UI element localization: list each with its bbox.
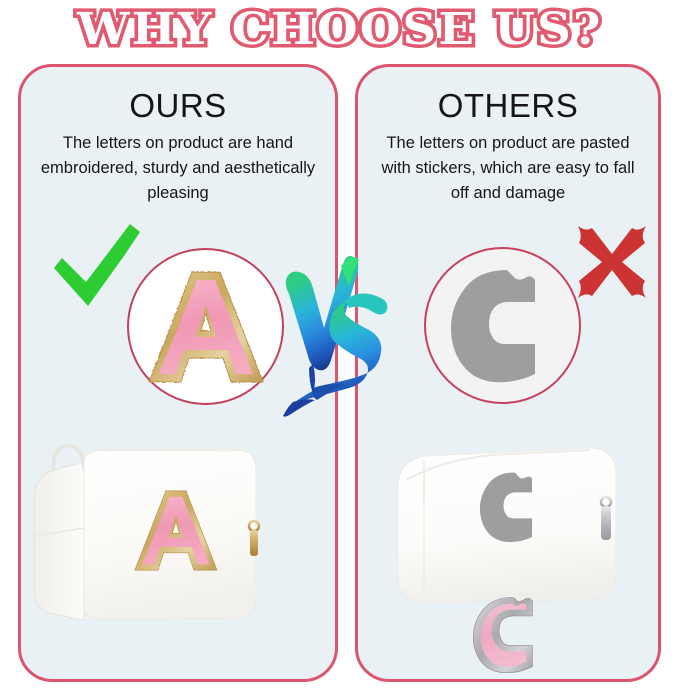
sample-circle-others bbox=[424, 247, 581, 404]
panel-others-title: OTHERS bbox=[358, 87, 658, 125]
check-icon bbox=[50, 222, 142, 314]
panel-ours-description: The letters on product are hand embroide… bbox=[35, 131, 321, 206]
panel-ours-title: OURS bbox=[21, 87, 335, 125]
page-title-text: WHY CHOOSE US? bbox=[77, 6, 602, 54]
product-pouch-ours bbox=[32, 440, 300, 652]
sample-circle-ours bbox=[127, 248, 284, 405]
sticker-letter-c bbox=[443, 266, 563, 386]
vs-graphic bbox=[283, 248, 395, 430]
page-title-inline-overlay: WHY CHOOSE US? bbox=[0, 2, 679, 58]
patch-letter-a bbox=[145, 268, 267, 386]
comparison-infographic: WHY CHOOSE US? WHY CHOOSE US? OURS The l… bbox=[0, 0, 679, 689]
page-title-inline-text: WHY CHOOSE US? bbox=[77, 6, 602, 54]
page-title: WHY CHOOSE US? bbox=[0, 2, 679, 58]
panel-others-description: The letters on product are pasted with s… bbox=[372, 131, 644, 206]
x-icon bbox=[572, 222, 652, 302]
product-pouch-others bbox=[390, 440, 638, 620]
fallen-patch-letter-c bbox=[472, 596, 546, 674]
